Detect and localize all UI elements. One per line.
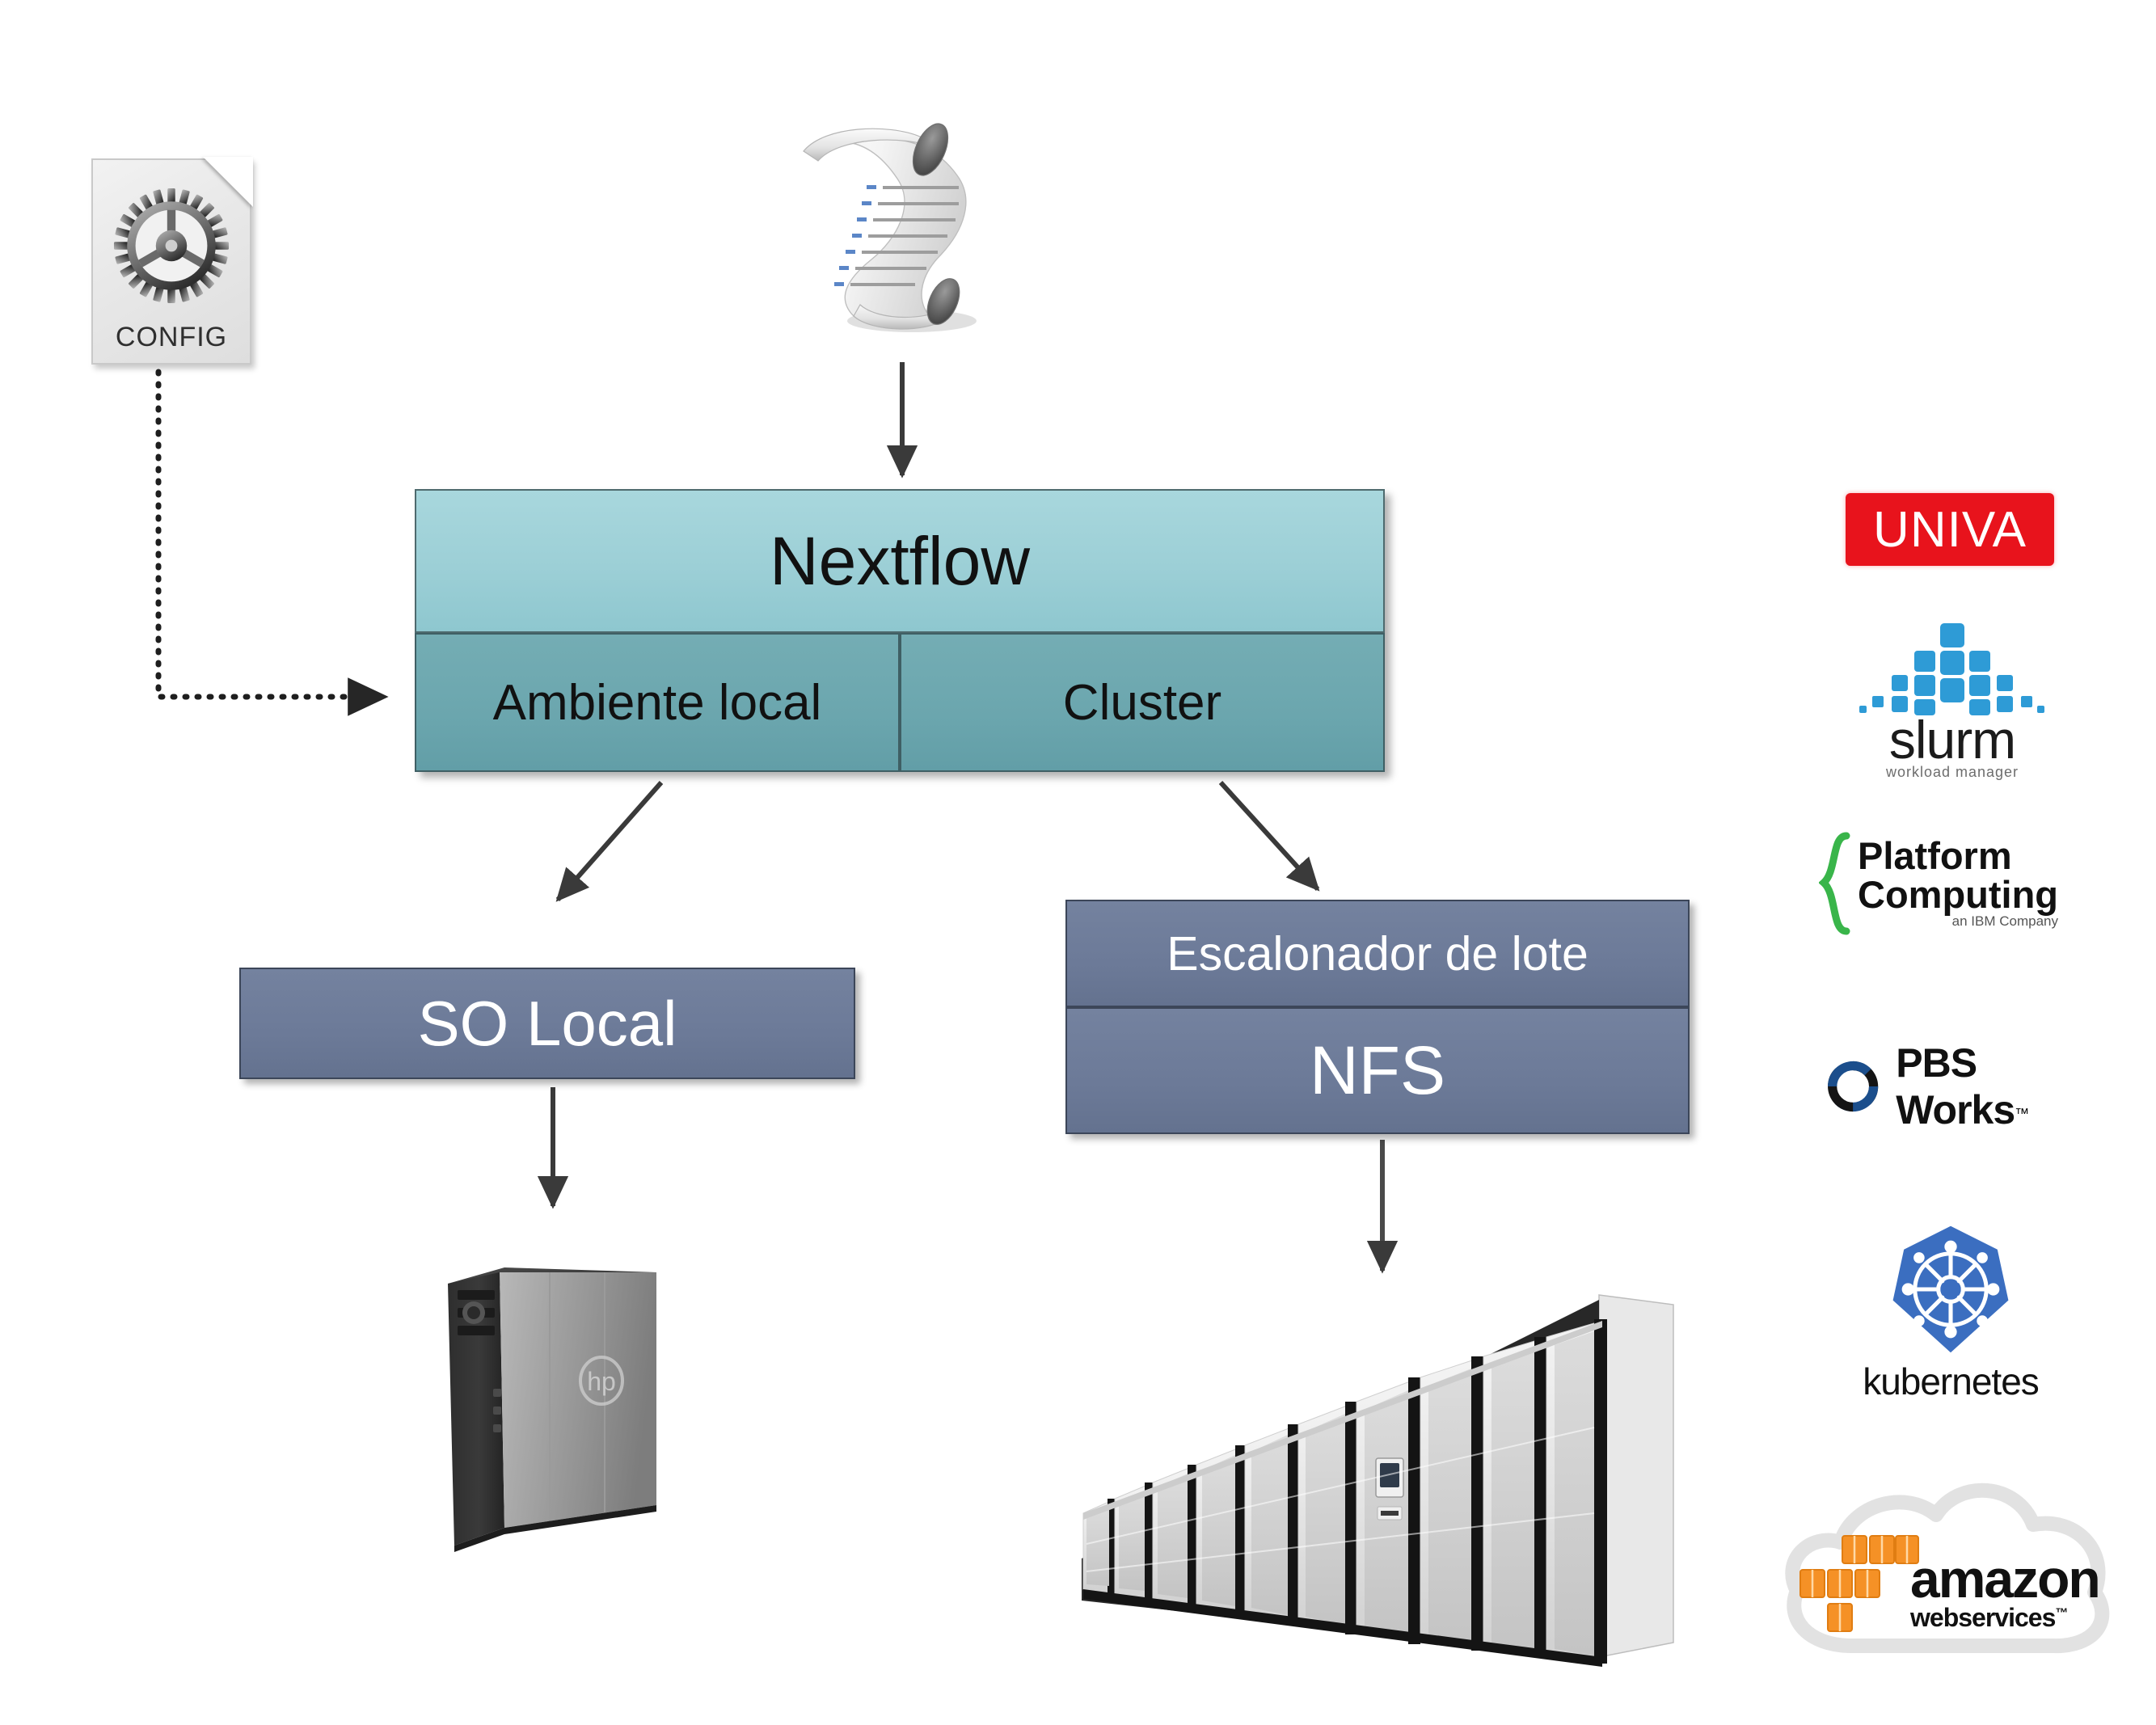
config-file-label: CONFIG	[91, 322, 251, 353]
logo-amazon-web-services: amazon webservices™	[1774, 1455, 2130, 1681]
webservices-text: webservices	[1910, 1603, 2055, 1632]
slurm-wordmark: slurm	[1851, 716, 2053, 764]
batch-scheduler-box[interactable]: Escalonador de lote	[1065, 900, 1690, 1007]
nextflow-cell-ambiente-local[interactable]: Ambiente local	[415, 633, 900, 772]
edge-ambiente-to-so-local	[558, 782, 661, 900]
pbs-ring-icon	[1823, 1052, 1883, 1121]
univa-label: UNIVA	[1873, 501, 2027, 559]
so-local-label: SO Local	[418, 987, 677, 1061]
logo-platform-computing: Platform Computing an IBM Company	[1819, 825, 2086, 942]
pbs-works-wordmark: PBS Works	[1896, 1040, 2015, 1132]
script-scroll-icon	[776, 101, 1010, 344]
univa-plate: UNIVA	[1846, 493, 2054, 566]
platform-line1: Platform	[1858, 837, 2058, 875]
logo-pbs-works: PBS Works™	[1823, 1043, 2090, 1130]
kubernetes-wordmark: kubernetes	[1863, 1360, 2039, 1402]
server-rack-icon	[1075, 1277, 1690, 1681]
platform-tagline: an IBM Company	[1858, 913, 2058, 930]
platform-line2: Computing	[1858, 875, 2058, 914]
aws-orange-boxes-icon	[1792, 1533, 1922, 1654]
logo-kubernetes: kubernetes	[1846, 1221, 2056, 1407]
nextflow-cell-cluster[interactable]: Cluster	[900, 633, 1385, 772]
slurm-squares-icon	[1851, 618, 2053, 717]
nfs-box[interactable]: NFS	[1065, 1007, 1690, 1134]
so-local-box[interactable]: SO Local	[239, 968, 855, 1079]
edge-cluster-to-scheduler	[1221, 782, 1318, 889]
gear-icon	[112, 186, 231, 310]
aws-trademark: ™	[2055, 1606, 2067, 1620]
nextflow-header: Nextflow	[415, 489, 1385, 633]
kubernetes-helm-icon	[1882, 1221, 2019, 1358]
desktop-tower-icon: hp	[427, 1245, 677, 1584]
nextflow-component[interactable]: Nextflow Ambiente local Cluster	[415, 489, 1385, 772]
green-brace-icon	[1819, 831, 1854, 936]
svg-text:hp: hp	[587, 1367, 616, 1396]
ambiente-local-label: Ambiente local	[493, 674, 822, 732]
nextflow-title: Nextflow	[770, 522, 1030, 601]
batch-scheduler-label: Escalonador de lote	[1167, 926, 1589, 981]
cluster-services-stack: Escalonador de lote NFS	[1065, 900, 1690, 1134]
slurm-tagline: workload manager	[1851, 764, 2053, 781]
pbs-trademark: ™	[2015, 1106, 2029, 1122]
amazon-wordmark: amazon	[1910, 1554, 2099, 1605]
nextflow-executor-row: Ambiente local Cluster	[415, 633, 1385, 772]
nfs-label: NFS	[1310, 1031, 1445, 1110]
cluster-label: Cluster	[1063, 674, 1221, 732]
config-file-icon: CONFIG	[91, 158, 251, 365]
edge-config-to-ambiente-local	[158, 372, 384, 697]
logo-univa: UNIVA	[1846, 493, 2054, 566]
logo-slurm: slurm workload manager	[1851, 618, 2053, 780]
